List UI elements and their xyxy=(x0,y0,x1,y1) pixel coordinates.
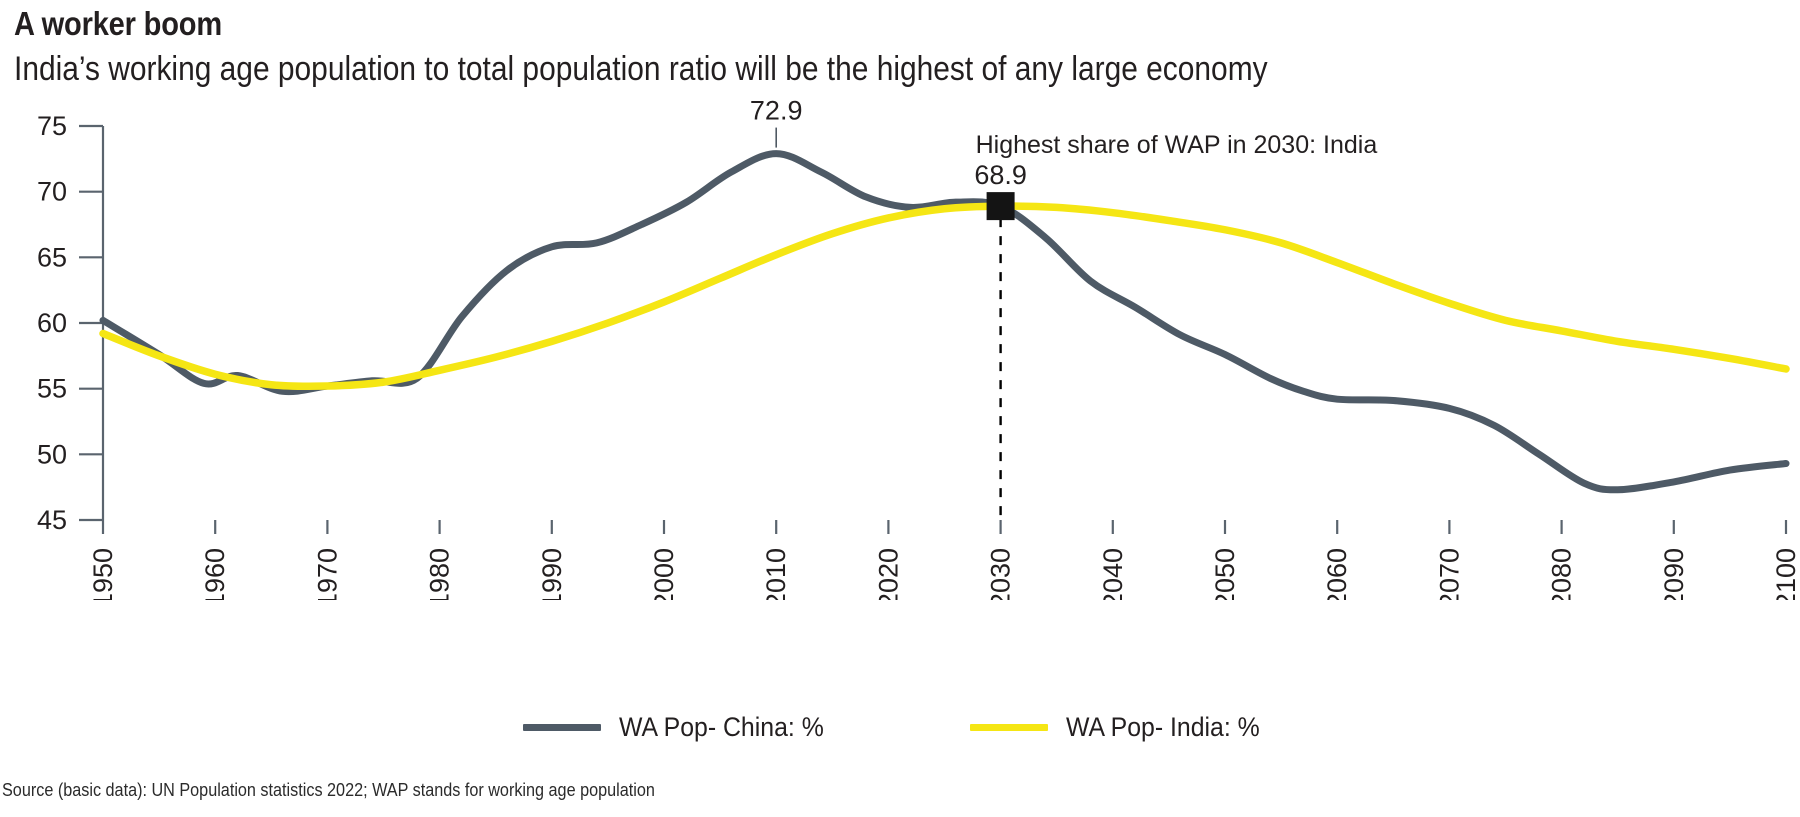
page-title: A worker boom xyxy=(14,0,1580,44)
legend-item-china[interactable]: WA Pop- China: % xyxy=(523,712,842,743)
india-2030-value-label: 68.9 xyxy=(974,160,1027,190)
y-axis-tick-label: 50 xyxy=(37,439,67,469)
x-axis-tick-label: 2060 xyxy=(1322,548,1352,600)
chart-legend: WA Pop- China: % WA Pop- India: % xyxy=(0,712,1800,743)
legend-swatch-india xyxy=(970,724,1048,731)
chart-page: A worker boom India’s working age popula… xyxy=(0,0,1800,817)
x-axis-tick-label: 2070 xyxy=(1434,548,1464,600)
y-axis-tick-label: 75 xyxy=(37,111,67,141)
x-axis-tick-marks xyxy=(103,520,1786,534)
line-chart-svg: 45505560657075 1950196019701980199020002… xyxy=(0,100,1800,600)
x-axis-tick-label: 2090 xyxy=(1659,548,1689,600)
x-axis-tick-label: 1970 xyxy=(312,548,342,600)
legend-label-china: WA Pop- China: % xyxy=(619,712,824,743)
x-axis-tick-label: 1950 xyxy=(88,548,118,600)
legend-item-india[interactable]: WA Pop- India: % xyxy=(970,712,1277,743)
x-axis-tick-label: 2100 xyxy=(1771,548,1800,600)
x-axis-tick-label: 2010 xyxy=(761,548,791,600)
y-axis-tick-label: 60 xyxy=(37,308,67,338)
series-line-india xyxy=(103,206,1786,386)
source-note: Source (basic data): UN Population stati… xyxy=(2,780,655,801)
x-axis-tick-label: 2050 xyxy=(1210,548,1240,600)
legend-label-india: WA Pop- India: % xyxy=(1066,712,1260,743)
y-axis-tick-label: 55 xyxy=(37,374,67,404)
y-axis-tick-labels: 45505560657075 xyxy=(37,111,67,535)
china-peak-value-label: 72.9 xyxy=(750,100,803,126)
x-axis-tick-label: 1990 xyxy=(537,548,567,600)
chart-subtitle: India’s working age population to total … xyxy=(14,44,1580,90)
x-axis-tick-label: 1980 xyxy=(425,548,455,600)
x-axis-tick-labels: 1950196019701980199020002010202020302040… xyxy=(88,548,1800,600)
y-axis-tick-label: 45 xyxy=(37,505,67,535)
chart-header: A worker boom India’s working age popula… xyxy=(14,0,1794,90)
x-axis-tick-label: 1960 xyxy=(200,548,230,600)
chart-plot-area: 45505560657075 1950196019701980199020002… xyxy=(0,100,1800,600)
x-axis-tick-label: 2080 xyxy=(1547,548,1577,600)
india-2030-annotation-text: Highest share of WAP in 2030: India xyxy=(976,131,1378,159)
x-axis-tick-label: 2020 xyxy=(873,548,903,600)
x-axis-tick-label: 2040 xyxy=(1098,548,1128,600)
india-2030-marker xyxy=(987,192,1015,220)
y-axis-tick-label: 70 xyxy=(37,177,67,207)
y-axis-tick-label: 65 xyxy=(37,242,67,272)
y-axis-tick-marks xyxy=(79,126,103,520)
x-axis-tick-label: 2000 xyxy=(649,548,679,600)
x-axis-tick-label: 2030 xyxy=(986,548,1016,600)
series-line-china xyxy=(103,154,1786,490)
legend-swatch-china xyxy=(523,724,601,731)
